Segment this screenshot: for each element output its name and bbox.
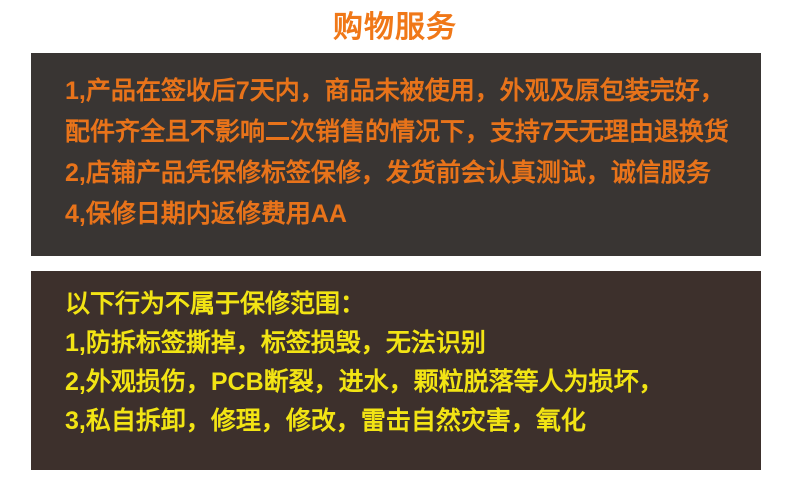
warranty-line-1: 1,防拆标签撕掉，标签损毁，无法识别 [65,324,751,363]
service-info-page: 购物服务 1,产品在签收后7天内，商品未被使用，外观及原包装完好， 配件齐全且不… [0,0,790,481]
shopping-service-lines: 1,产品在签收后7天内，商品未被使用，外观及原包装完好， 配件齐全且不影响二次销… [65,71,751,235]
warranty-exclusions-panel: 以下行为不属于保修范围： 1,防拆标签撕掉，标签损毁，无法识别 2,外观损伤，P… [31,271,761,470]
service-line-1: 1,产品在签收后7天内，商品未被使用，外观及原包装完好， [65,71,751,112]
warranty-line-2: 2,外观损伤，PCB断裂，进水，颗粒脱落等人为损坏， [65,363,751,402]
warranty-heading: 以下行为不属于保修范围： [65,285,751,324]
service-line-2: 配件齐全且不影响二次销售的情况下，支持7天无理由退换货 [65,112,751,153]
service-line-4: 4,保修日期内返修费用AA [65,194,751,235]
warranty-exclusions-lines: 以下行为不属于保修范围： 1,防拆标签撕掉，标签损毁，无法识别 2,外观损伤，P… [65,285,751,441]
page-title-bar: 购物服务 [0,0,790,53]
page-title: 购物服务 [333,13,457,43]
warranty-line-3: 3,私自拆卸，修理，修改，雷击自然灾害，氧化 [65,402,751,441]
service-line-3: 2,店铺产品凭保修标签保修，发货前会认真测试，诚信服务 [65,153,751,194]
shopping-service-panel: 1,产品在签收后7天内，商品未被使用，外观及原包装完好， 配件齐全且不影响二次销… [31,53,761,256]
